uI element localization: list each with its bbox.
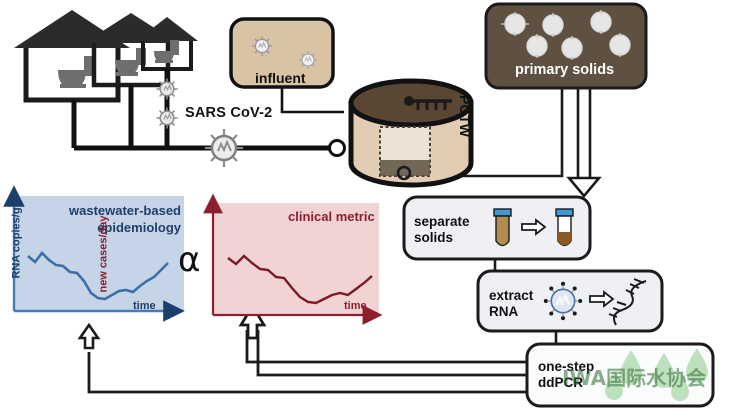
separate-solids-line-1: separate [414,214,470,229]
clarifier-tank-icon [351,81,471,185]
virus-particle-icon [156,107,177,128]
extract-rna-line-1: extract [489,288,533,303]
wbe-title-line-1: wastewater-based [69,203,181,218]
separate-solids-line-2: solids [414,230,453,245]
wbe-title-line-2: epidemiology [97,220,181,235]
diagram-canvas: SARS CoV-2 influent primary solids POTW … [0,0,735,419]
wbe-feed-arrow-icon [80,325,98,348]
primary-solids-label: primary solids [515,62,614,78]
potw-label: POTW [457,95,473,137]
feedback-return-line-2 [300,380,527,392]
sars-cov2-label: SARS CoV-2 [185,105,272,121]
virus-particle-icon [156,78,177,99]
virus-particle-icon [544,282,582,320]
separate-solids-label: separate solids [414,214,470,246]
clinical-chart-title: clinical metric [288,209,375,224]
test-tube-icon [494,209,511,246]
influent-box [231,19,344,112]
virus-particle-icon [205,129,243,167]
test-tube-icon [556,209,573,246]
pipe-junction-node [330,141,345,156]
wastewater-y-axis-label: RNA copies/g [11,207,23,278]
extract-rna-label: extract RNA [489,288,533,320]
proportional-symbol: α [178,240,200,280]
wastewater-chart-title: wastewater-based epidemiology [56,202,181,236]
wastewater-x-axis-label: time [133,300,156,312]
extract-rna-line-2: RNA [489,304,518,319]
clinical-x-axis-label: time [344,300,367,312]
influent-label: influent [255,70,306,86]
watermark-text: IWA国际水协会 [562,362,706,391]
clinical-y-axis-label: new cases/day [98,215,110,292]
feedback-return-line [89,352,300,392]
